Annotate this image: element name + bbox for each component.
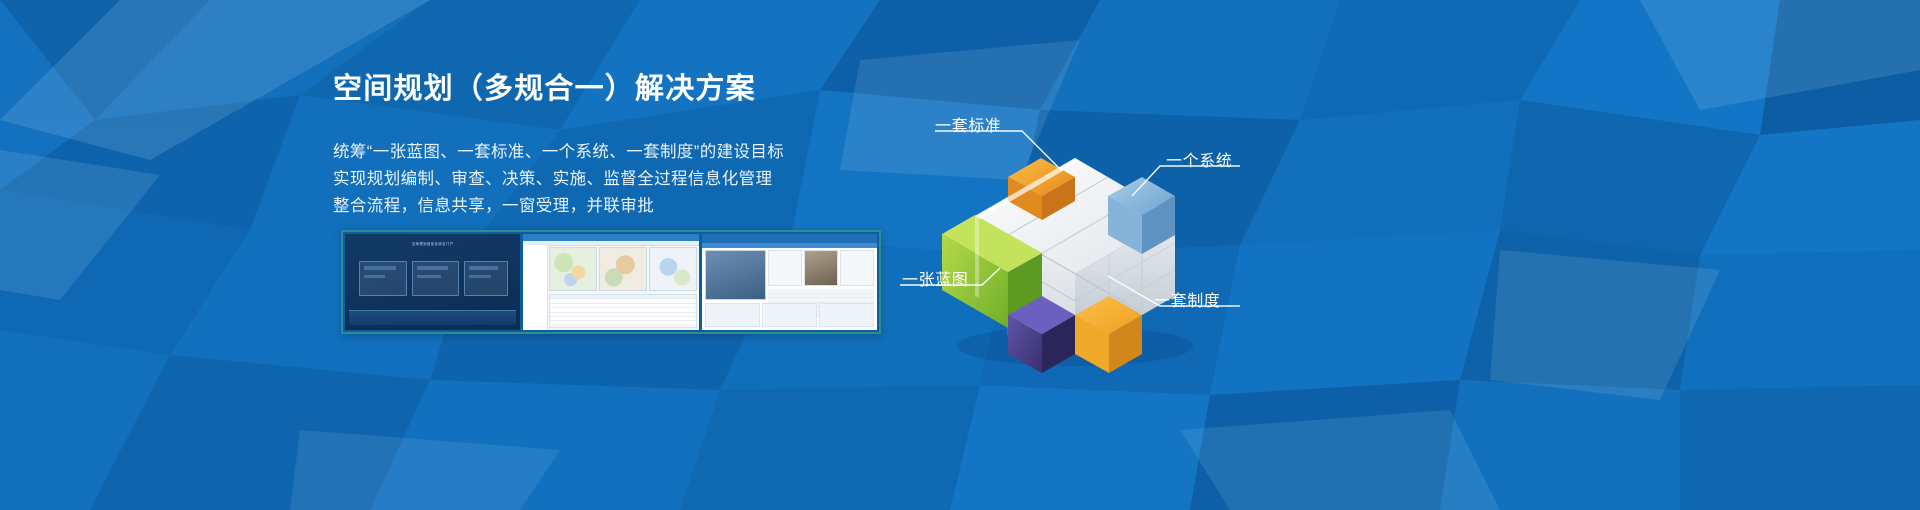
callout-label-system: 一个系统: [1166, 147, 1232, 171]
callout-leader-lines: [0, 0, 1920, 510]
solution-banner: 空间规划（多规合一）解决方案 统筹“一张蓝图、一套标准、一个系统、一套制度”的建…: [0, 0, 1920, 510]
callout-label-blueprint: 一张蓝图: [902, 266, 968, 290]
callout-label-institution: 一套制度: [1154, 287, 1220, 311]
callout-label-standard: 一套标准: [935, 112, 1001, 136]
